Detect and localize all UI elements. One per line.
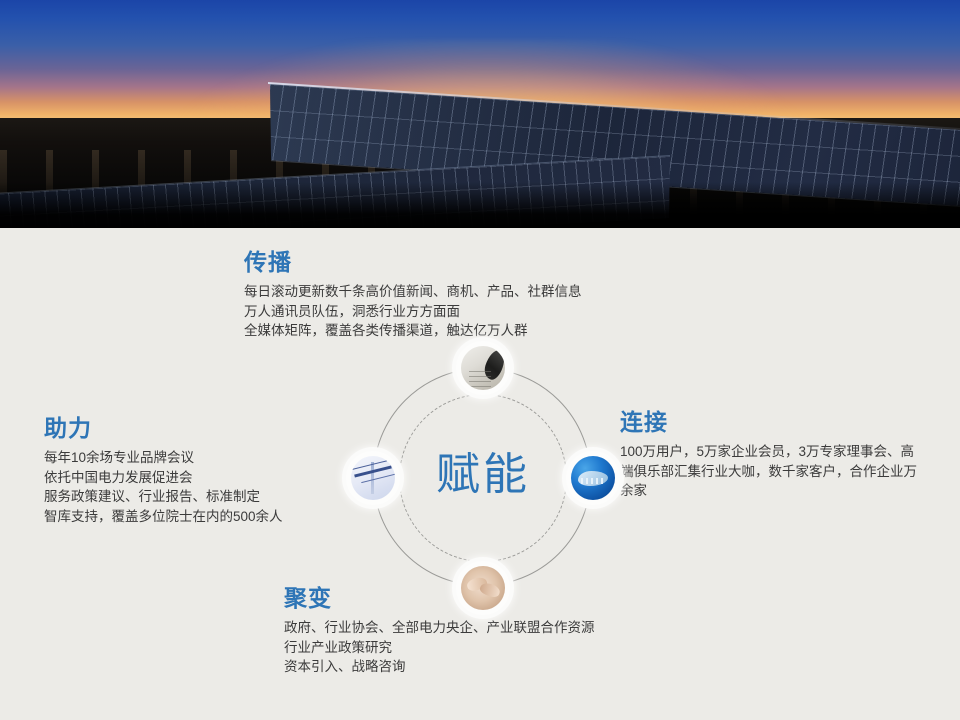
block-chuanbo-line-2: 万人通讯员队伍，洞悉行业方方面面 <box>244 302 582 322</box>
block-chuanbo-line-1: 每日滚动更新数千条高价值新闻、商机、产品、社群信息 <box>244 282 582 302</box>
hands-together-photo-icon <box>461 566 505 610</box>
block-chuanbo-heading: 传播 <box>244 248 582 276</box>
hero-banner-image <box>0 0 960 228</box>
block-jubian-line-2: 行业产业政策研究 <box>284 638 595 658</box>
conference-photo-icon <box>461 346 505 390</box>
wind-turbine-photo-icon <box>351 456 395 500</box>
block-lianjie-line-1: 100万用户，5万家企业会员，3万专家理事会、高端俱乐部汇集行业大咖，数千家客户… <box>620 442 920 501</box>
block-zhuli-line-3: 服务政策建议、行业报告、标准制定 <box>44 487 283 507</box>
block-zhuli-heading: 助力 <box>44 414 283 442</box>
diagram-node-north[interactable] <box>456 341 510 395</box>
diagram-node-east[interactable] <box>566 451 620 505</box>
block-chuanbo: 传播 每日滚动更新数千条高价值新闻、商机、产品、社群信息 万人通讯员队伍，洞悉行… <box>244 248 582 341</box>
block-zhuli-lines: 每年10余场专业品牌会议 依托中国电力发展促进会 服务政策建议、行业报告、标准制… <box>44 448 283 526</box>
block-lianjie-heading: 连接 <box>620 408 920 436</box>
block-zhuli-line-2: 依托中国电力发展促进会 <box>44 468 283 488</box>
block-zhuli: 助力 每年10余场专业品牌会议 依托中国电力发展促进会 服务政策建议、行业报告、… <box>44 414 283 526</box>
content-area: 传播 每日滚动更新数千条高价值新闻、商机、产品、社群信息 万人通讯员队伍，洞悉行… <box>0 228 960 720</box>
hero-bottom-fade <box>0 182 960 228</box>
diagram-node-south[interactable] <box>456 561 510 615</box>
block-chuanbo-line-3: 全媒体矩阵，覆盖各类传播渠道，触达亿万人群 <box>244 321 582 341</box>
block-jubian-line-3: 资本引入、战略咨询 <box>284 657 595 677</box>
block-zhuli-line-4: 智库支持，覆盖多位院士在内的500余人 <box>44 507 283 527</box>
block-jubian-lines: 政府、行业协会、全部电力央企、产业联盟合作资源 行业产业政策研究 资本引入、战略… <box>284 618 595 677</box>
circular-diagram: 赋能 <box>355 350 611 606</box>
block-chuanbo-lines: 每日滚动更新数千条高价值新闻、商机、产品、社群信息 万人通讯员队伍，洞悉行业方方… <box>244 282 582 341</box>
block-zhuli-line-1: 每年10余场专业品牌会议 <box>44 448 283 468</box>
globe-photo-icon <box>571 456 615 500</box>
block-lianjie: 连接 100万用户，5万家企业会员，3万专家理事会、高端俱乐部汇集行业大咖，数千… <box>620 408 920 501</box>
block-lianjie-lines: 100万用户，5万家企业会员，3万专家理事会、高端俱乐部汇集行业大咖，数千家客户… <box>620 442 920 501</box>
block-jubian-line-1: 政府、行业协会、全部电力央企、产业联盟合作资源 <box>284 618 595 638</box>
diagram-node-west[interactable] <box>346 451 400 505</box>
